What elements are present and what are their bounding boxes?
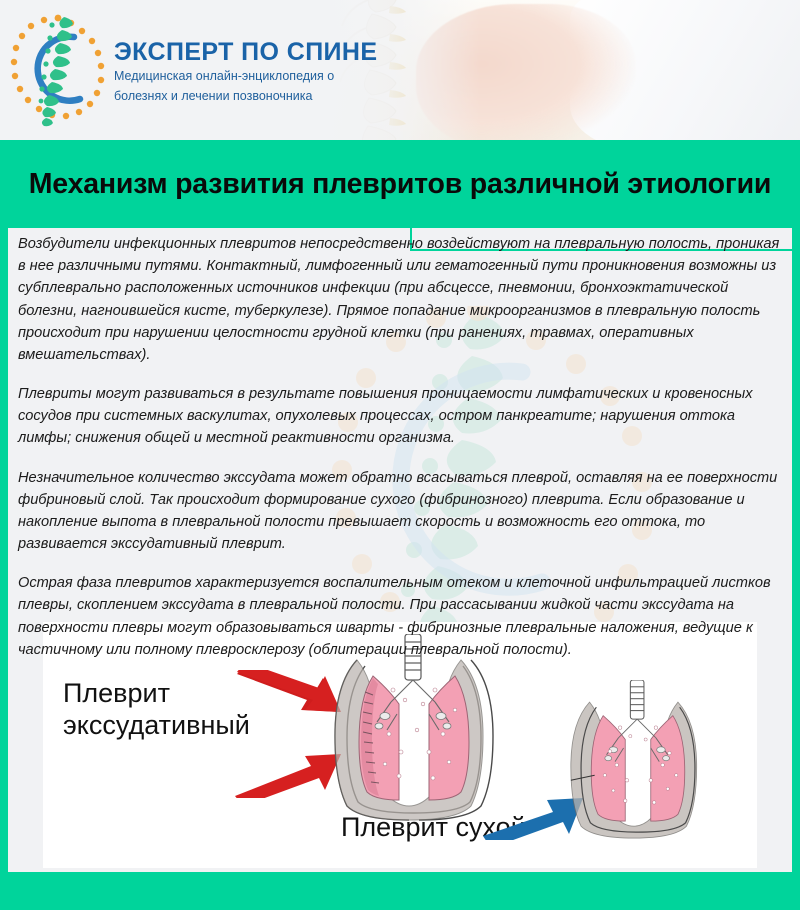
logo-text-block: ЭКСПЕРТ ПО СПИНЕ Медицинская онлайн-энци…: [114, 35, 377, 105]
article-paragraphs: Возбудители инфекционных плевритов непос…: [8, 228, 792, 661]
logo-subtitle-line2: болезнях и лечении позвоночника: [114, 88, 377, 105]
dry-pleurisy-lungs: [543, 680, 733, 850]
site-header: ЭКСПЕРТ ПО СПИНЕ Медицинская онлайн-энци…: [0, 0, 800, 140]
spine-logo-icon: [8, 11, 108, 129]
exudative-pleurisy-lungs: [319, 634, 509, 834]
logo-title: ЭКСПЕРТ ПО СПИНЕ: [114, 39, 377, 65]
paragraph-3: Незначительное количество экссудата може…: [18, 467, 782, 556]
header-photo: [320, 0, 800, 140]
bottom-accent-strip: [0, 872, 800, 910]
article-content-panel: Возбудители инфекционных плевритов непос…: [8, 228, 792, 872]
page-title: Механизм развития плевритов различной эт…: [29, 168, 771, 201]
paragraph-2: Плевриты могут развиваться в результате …: [18, 383, 782, 450]
paragraph-4: Острая фаза плевритов характеризуется во…: [18, 572, 782, 661]
logo-subtitle-line1: Медицинская онлайн-энциклопедия о: [114, 68, 377, 85]
paragraph-1: Возбудители инфекционных плевритов непос…: [18, 233, 782, 366]
article-title-bar: Механизм развития плевритов различной эт…: [0, 140, 800, 228]
label-exudative-pleurisy: Плеврит экссудативный: [63, 678, 250, 742]
site-logo[interactable]: ЭКСПЕРТ ПО СПИНЕ Медицинская онлайн-энци…: [8, 10, 368, 130]
